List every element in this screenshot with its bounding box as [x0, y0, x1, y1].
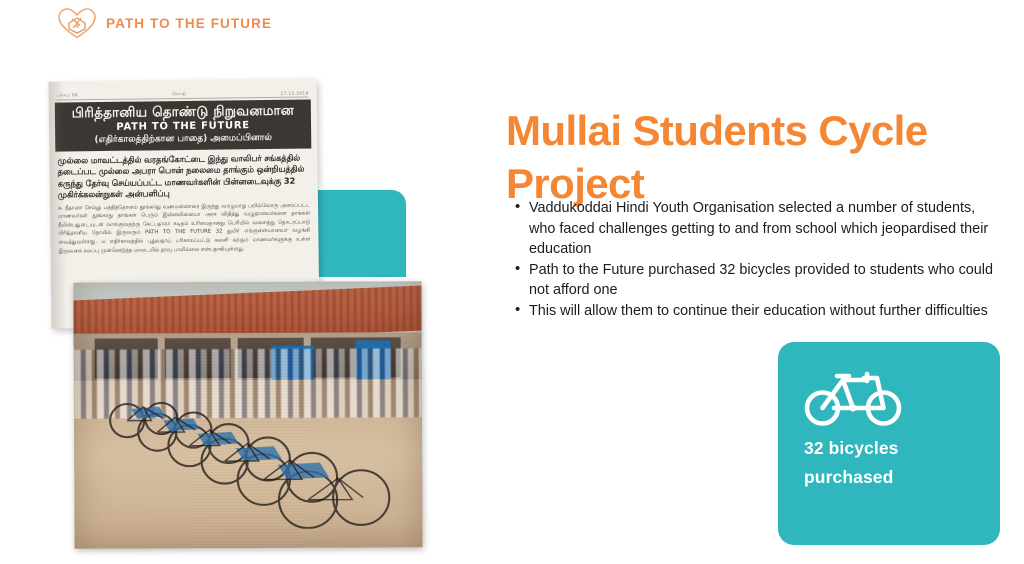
stat-card-label: 32 bicycles purchased: [804, 434, 984, 492]
newspaper-headline-tamil-1: பிரித்தானிய தொண்டு நிறுவனமான: [59, 102, 307, 121]
list-item: This will allow them to continue their e…: [512, 301, 1002, 322]
bicycle-icon: [804, 364, 902, 428]
bullet-list: Vaddukoddai Hindi Youth Organisation sel…: [512, 198, 1002, 322]
teal-accent-block: [310, 190, 406, 277]
stat-card: 32 bicycles purchased: [778, 342, 1000, 545]
page-title: Mullai Students Cycle Project: [506, 104, 1006, 210]
newspaper-headline-tamil-2: (எதிர்காலத்திற்கான பாதை) அமைப்பினால்: [59, 131, 307, 146]
list-item: Path to the Future purchased 32 bicycles…: [512, 260, 1002, 301]
newspaper-headline-band: பிரித்தானிய தொண்டு நிறுவனமான PATH TO THE…: [55, 99, 312, 151]
photo-bicycles-row: [81, 382, 423, 530]
list-item: Vaddukoddai Hindi Youth Organisation sel…: [512, 198, 1002, 260]
students-with-bicycles-photo: [73, 281, 422, 549]
image-collage: பக்கம் 08 செய்தி 27.11.2019 பிரித்தானிய …: [0, 0, 470, 564]
newspaper-body-paragraph: சு. நீதானா செல்லு பத்தித்தோனம் தூங்காது …: [58, 201, 311, 256]
newspaper-section-label: செய்தி: [172, 91, 186, 97]
newspaper-lead-paragraph: முல்லை மாவட்டத்தில் வரதங்கோட்டை இந்து வா…: [57, 152, 310, 201]
newspaper-page-label: பக்கம் 08: [57, 92, 78, 98]
newspaper-date-label: 27.11.2019: [281, 90, 309, 95]
